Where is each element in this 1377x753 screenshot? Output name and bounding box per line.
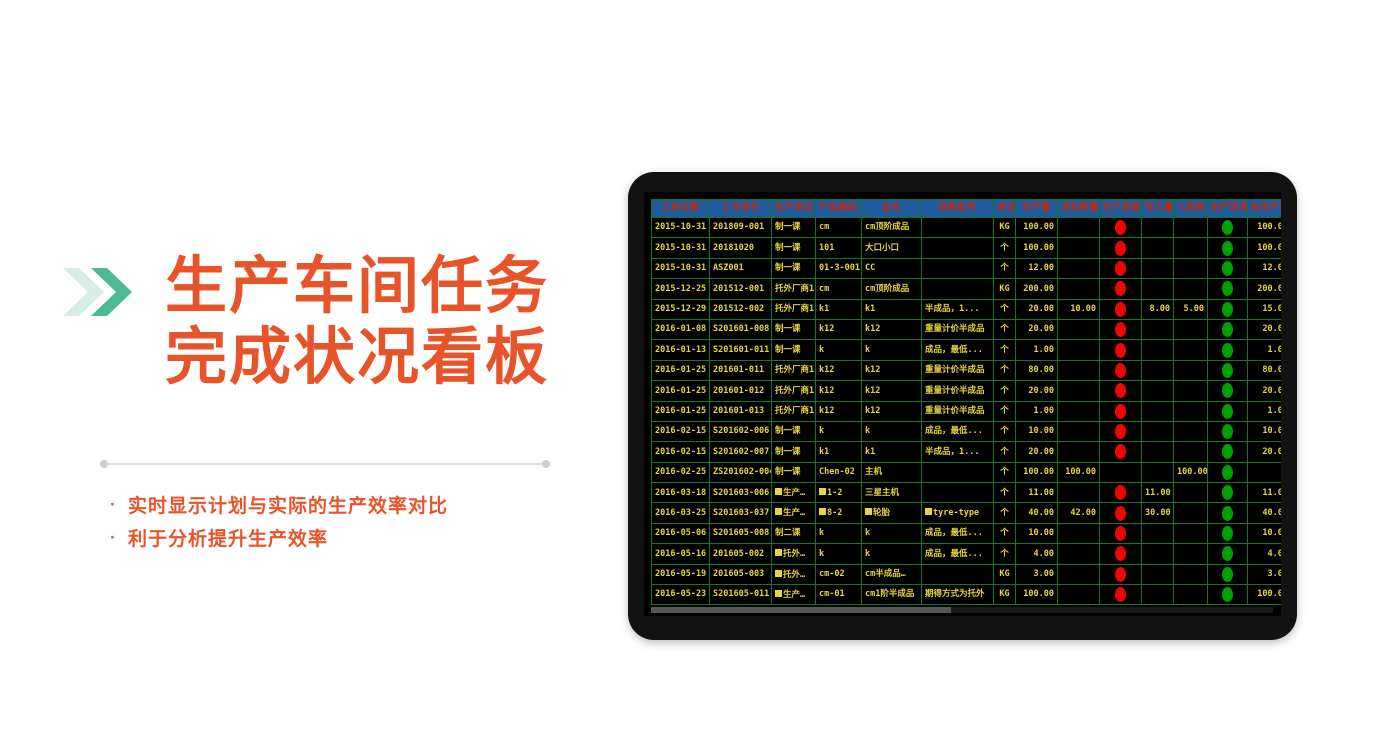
cell-unit: 制一课 [772, 319, 816, 339]
cell-abnormal [1208, 340, 1248, 360]
cell-qty: 100.00 [1016, 238, 1058, 258]
cell-abnormal [1208, 564, 1248, 584]
redacted-mask-icon [775, 590, 782, 597]
cell-uom: 个 [994, 258, 1016, 278]
cell-stock [1174, 319, 1208, 339]
table-row[interactable]: 2015-12-29201512-002托外厂商1k1k1半成品，1...个20… [652, 299, 1282, 319]
progress-red-indicator [1115, 424, 1126, 439]
cell-unit: 制一课 [772, 421, 816, 441]
tablet-screen: 工单日期工令单号生产单位产品编码品名规格型号单位生产量发料数量生产进度完工量入库… [644, 192, 1281, 616]
column-header-5[interactable]: 规格型号 [922, 200, 994, 218]
cell-code: cm-01 [816, 585, 862, 605]
cell-done [1142, 319, 1174, 339]
cell-progress [1100, 340, 1142, 360]
cell-progress [1100, 585, 1142, 605]
bullet-text: 利于分析提升生产效率 [128, 523, 328, 556]
cell-unproduced: 100.00 [1248, 238, 1282, 258]
cell-done [1142, 401, 1174, 421]
cell-order: S201605-011 [710, 585, 772, 605]
abnormal-green-indicator [1222, 241, 1233, 256]
cell-uom: KG [994, 585, 1016, 605]
table-row[interactable]: 2016-01-25201601-012托外厂商1k12k12重量计价半成品个2… [652, 381, 1282, 401]
cell-issue: 100.00 [1058, 462, 1100, 482]
cell-unproduced: 40.00 [1248, 503, 1282, 523]
cell-done [1142, 462, 1174, 482]
progress-red-indicator [1115, 587, 1126, 602]
cell-done: 11.00 [1142, 483, 1174, 503]
cell-name: 主机 [862, 462, 922, 482]
table-row[interactable]: 2016-05-16201605-002托外…kk成品，最低...个4.004.… [652, 544, 1282, 564]
abnormal-green-indicator [1222, 526, 1233, 541]
cell-unproduced: 20.00 [1248, 381, 1282, 401]
redacted-mask-icon [925, 508, 932, 515]
cell-spec: 半成品，1... [922, 299, 994, 319]
cell-abnormal [1208, 258, 1248, 278]
divider-dot-right [542, 460, 550, 468]
cell-progress [1100, 523, 1142, 543]
cell-spec: 成品，最低... [922, 340, 994, 360]
cell-qty: 20.00 [1016, 381, 1058, 401]
abnormal-green-indicator [1222, 302, 1233, 317]
column-header-0[interactable]: 工单日期 [652, 200, 710, 218]
cell-name: k [862, 523, 922, 543]
column-header-11[interactable]: 入库数量 [1174, 200, 1208, 218]
cell-spec: 成品，最低... [922, 523, 994, 543]
cell-date: 2016-02-25 [652, 462, 710, 482]
cell-name: cm顶阶成品 [862, 279, 922, 299]
cell-done [1142, 360, 1174, 380]
cell-abnormal [1208, 401, 1248, 421]
cell-code: k12 [816, 360, 862, 380]
cell-abnormal [1208, 544, 1248, 564]
cell-uom: 个 [994, 360, 1016, 380]
production-kanban-table: 工单日期工令单号生产单位产品编码品名规格型号单位生产量发料数量生产进度完工量入库… [651, 199, 1281, 605]
cell-abnormal [1208, 483, 1248, 503]
cell-issue [1058, 319, 1100, 339]
cell-stock [1174, 381, 1208, 401]
cell-done [1142, 544, 1174, 564]
cell-order: S201602-007 [710, 442, 772, 462]
cell-unit: 生产… [772, 585, 816, 605]
cell-qty: 20.00 [1016, 319, 1058, 339]
cell-unproduced: 20.00 [1248, 319, 1282, 339]
cell-progress [1100, 319, 1142, 339]
cell-qty: 12.00 [1016, 258, 1058, 278]
cell-order: 201601-012 [710, 381, 772, 401]
column-header-8[interactable]: 发料数量 [1058, 200, 1100, 218]
cell-order: S201601-011 [710, 340, 772, 360]
cell-done [1142, 585, 1174, 605]
cell-spec: 成品，最低... [922, 544, 994, 564]
table-row[interactable]: 2016-05-23S201605-011生产…cm-01cm1阶半成品期得方式… [652, 585, 1282, 605]
slide-left-panel: 生产车间任务 完成状况看板 · 实时显示计划与实际的生产效率对比 · 利于分析提… [0, 0, 620, 753]
cell-name: k12 [862, 360, 922, 380]
page-title-line-2: 完成状况看板 [165, 323, 605, 394]
cell-qty: 4.00 [1016, 544, 1058, 564]
cell-unproduced: 12.00 [1248, 258, 1282, 278]
cell-done [1142, 523, 1174, 543]
cell-abnormal [1208, 442, 1248, 462]
abnormal-green-indicator [1222, 485, 1233, 500]
cell-uom: 个 [994, 381, 1016, 401]
cell-date: 2016-01-25 [652, 360, 710, 380]
cell-progress [1100, 238, 1142, 258]
cell-stock [1174, 360, 1208, 380]
cell-code: 1-2 [816, 483, 862, 503]
redacted-mask-icon [819, 488, 826, 495]
cell-order: ASZ001 [710, 258, 772, 278]
cell-code: k [816, 544, 862, 564]
cell-uom: 个 [994, 340, 1016, 360]
progress-red-indicator [1115, 546, 1126, 561]
cell-stock [1174, 585, 1208, 605]
cell-progress [1100, 401, 1142, 421]
cell-uom: 个 [994, 483, 1016, 503]
cell-progress [1100, 503, 1142, 523]
cell-qty: 40.00 [1016, 503, 1058, 523]
cell-spec [922, 483, 994, 503]
cell-code: cm-02 [816, 564, 862, 584]
cell-stock [1174, 279, 1208, 299]
cell-date: 2016-05-19 [652, 564, 710, 584]
progress-red-indicator [1115, 526, 1126, 541]
cell-stock [1174, 544, 1208, 564]
cell-code: k1 [816, 442, 862, 462]
table-row[interactable]: 2016-03-18S201603-006生产…1-2三星主机个11.0011.… [652, 483, 1282, 503]
cell-date: 2016-05-16 [652, 544, 710, 564]
cell-qty: 3.00 [1016, 564, 1058, 584]
cell-date: 2016-01-25 [652, 401, 710, 421]
abnormal-green-indicator [1222, 383, 1233, 398]
table-body: 2015-10-31201809-001制一课cmcm顶阶成品KG100.001… [652, 218, 1282, 605]
cell-progress [1100, 218, 1142, 238]
cell-name: k12 [862, 319, 922, 339]
cell-unproduced: 100.00 [1248, 585, 1282, 605]
divider [100, 460, 550, 468]
cell-name: k [862, 340, 922, 360]
cell-uom: 个 [994, 523, 1016, 543]
cell-code: k [816, 523, 862, 543]
column-header-7[interactable]: 生产量 [1016, 200, 1058, 218]
column-header-3[interactable]: 产品编码 [816, 200, 862, 218]
cell-order: S201603-037 [710, 503, 772, 523]
table-row[interactable]: 2016-01-25201601-011托外厂商1k12k12重量计价半成品个8… [652, 360, 1282, 380]
cell-issue [1058, 442, 1100, 462]
cell-unit: 制一课 [772, 340, 816, 360]
cell-code: k12 [816, 381, 862, 401]
cell-order: S201601-008 [710, 319, 772, 339]
abnormal-green-indicator [1222, 465, 1233, 480]
cell-qty: 10.00 [1016, 421, 1058, 441]
cell-qty: 1.00 [1016, 340, 1058, 360]
cell-unproduced: 15.00 [1248, 299, 1282, 319]
cell-unit: 托外厂商1 [772, 401, 816, 421]
cell-unit: 生产… [772, 483, 816, 503]
cell-spec: tyre-type [922, 503, 994, 523]
cell-done: 8.00 [1142, 299, 1174, 319]
cell-stock [1174, 442, 1208, 462]
cell-stock [1174, 238, 1208, 258]
cell-unproduced [1248, 462, 1282, 482]
cell-qty: 100.00 [1016, 462, 1058, 482]
cell-code: 8-2 [816, 503, 862, 523]
abnormal-green-indicator [1222, 546, 1233, 561]
cell-qty: 1.00 [1016, 401, 1058, 421]
column-header-12[interactable]: 生产异常 [1208, 200, 1248, 218]
table-row[interactable]: 2015-10-31201809-001制一课cmcm顶阶成品KG100.001… [652, 218, 1282, 238]
cell-spec [922, 279, 994, 299]
cell-code: cm [816, 218, 862, 238]
double-chevron-icon [63, 266, 135, 318]
cell-order: 201512-001 [710, 279, 772, 299]
cell-uom: 个 [994, 299, 1016, 319]
table-row[interactable]: 2016-05-19201605-003托外…cm-02cm半成品…KG3.00… [652, 564, 1282, 584]
cell-unit: 制二课 [772, 523, 816, 543]
cell-uom: 个 [994, 319, 1016, 339]
cell-spec: 重量计价半成品 [922, 319, 994, 339]
table-row[interactable]: 2016-02-25ZS201602-004制一课Chen-02主机个100.0… [652, 462, 1282, 482]
cell-unproduced: 10.00 [1248, 421, 1282, 441]
cell-abnormal [1208, 238, 1248, 258]
abnormal-green-indicator [1222, 363, 1233, 378]
cell-abnormal [1208, 360, 1248, 380]
cell-qty: 20.00 [1016, 299, 1058, 319]
cell-qty: 80.00 [1016, 360, 1058, 380]
cell-date: 2016-05-23 [652, 585, 710, 605]
scrollbar-thumb[interactable] [651, 607, 951, 613]
progress-red-indicator [1115, 363, 1126, 378]
cell-order: 20181020 [710, 238, 772, 258]
cell-name: 大口小口 [862, 238, 922, 258]
cell-spec [922, 218, 994, 238]
cell-stock [1174, 218, 1208, 238]
cell-order: 201809-001 [710, 218, 772, 238]
progress-red-indicator [1115, 220, 1126, 235]
progress-red-indicator [1115, 444, 1126, 459]
abnormal-green-indicator [1222, 220, 1233, 235]
cell-abnormal [1208, 462, 1248, 482]
table-row[interactable]: 2015-10-31ASZ001制一课01-3-001CC个12.0012.00… [652, 258, 1282, 278]
cell-done [1142, 340, 1174, 360]
cell-issue [1058, 483, 1100, 503]
cell-qty: 200.00 [1016, 279, 1058, 299]
redacted-mask-icon [775, 488, 782, 495]
cell-unit: 制一课 [772, 462, 816, 482]
cell-done [1142, 564, 1174, 584]
cell-progress [1100, 421, 1142, 441]
cell-issue [1058, 585, 1100, 605]
cell-uom: KG [994, 564, 1016, 584]
cell-abnormal [1208, 319, 1248, 339]
cell-spec: 重量计价半成品 [922, 381, 994, 401]
page-title: 生产车间任务 完成状况看板 [165, 252, 605, 393]
cell-order: ZS201602-004 [710, 462, 772, 482]
cell-done [1142, 258, 1174, 278]
list-item: · 实时显示计划与实际的生产效率对比 [110, 490, 610, 523]
cell-progress [1100, 544, 1142, 564]
abnormal-green-indicator [1222, 343, 1233, 358]
cell-issue [1058, 258, 1100, 278]
cell-date: 2016-01-08 [652, 319, 710, 339]
cell-uom: KG [994, 218, 1016, 238]
cell-order: 201601-011 [710, 360, 772, 380]
cell-unproduced: 100.00 [1248, 218, 1282, 238]
column-header-2[interactable]: 生产单位 [772, 200, 816, 218]
cell-date: 2015-10-31 [652, 258, 710, 278]
table-row[interactable]: 2016-03-25S201603-037生产…8-2轮胎tyre-type个4… [652, 503, 1282, 523]
cell-spec: 半成品，1... [922, 442, 994, 462]
cell-stock: 5.00 [1174, 299, 1208, 319]
cell-spec [922, 238, 994, 258]
column-header-1[interactable]: 工令单号 [710, 200, 772, 218]
cell-date: 2015-10-31 [652, 238, 710, 258]
cell-unit: 生产… [772, 503, 816, 523]
cell-abnormal [1208, 503, 1248, 523]
cell-name: k [862, 421, 922, 441]
table-row[interactable]: 2016-02-15S201602-007制一课k1k1半成品，1...个20.… [652, 442, 1282, 462]
cell-code: k12 [816, 401, 862, 421]
abnormal-green-indicator [1222, 404, 1233, 419]
cell-uom: 个 [994, 503, 1016, 523]
cell-order: 201605-002 [710, 544, 772, 564]
divider-bar [106, 463, 544, 465]
redacted-mask-icon [775, 570, 782, 577]
progress-red-indicator [1115, 241, 1126, 256]
cell-uom: 个 [994, 421, 1016, 441]
table-row[interactable]: 2016-01-13S201601-011制一课kk成品，最低...个1.001… [652, 340, 1282, 360]
bullet-text: 实时显示计划与实际的生产效率对比 [128, 490, 448, 523]
abnormal-green-indicator [1222, 261, 1233, 276]
cell-uom: 个 [994, 401, 1016, 421]
cell-issue [1058, 238, 1100, 258]
column-header-10[interactable]: 完工量 [1142, 200, 1174, 218]
cell-stock: 100.00 [1174, 462, 1208, 482]
redacted-mask-icon [865, 508, 872, 515]
cell-issue [1058, 421, 1100, 441]
progress-red-indicator [1115, 567, 1126, 582]
progress-red-indicator [1115, 485, 1126, 500]
progress-red-indicator [1115, 302, 1126, 317]
progress-red-indicator [1115, 404, 1126, 419]
cell-name: k [862, 544, 922, 564]
cell-code: 101 [816, 238, 862, 258]
table-row[interactable]: 2016-01-25201601-013托外厂商1k12k12重量计价半成品个1… [652, 401, 1282, 421]
cell-qty: 100.00 [1016, 585, 1058, 605]
cell-issue [1058, 523, 1100, 543]
cell-qty: 11.00 [1016, 483, 1058, 503]
progress-red-indicator [1115, 383, 1126, 398]
bullet-mark-icon: · [110, 523, 128, 553]
table-row[interactable]: 2016-01-08S201601-008制一课k12k12重量计价半成品个20… [652, 319, 1282, 339]
bullet-list: · 实时显示计划与实际的生产效率对比 · 利于分析提升生产效率 [110, 490, 610, 557]
cell-unit: 制一课 [772, 238, 816, 258]
cell-spec: 重量计价半成品 [922, 360, 994, 380]
cell-abnormal [1208, 381, 1248, 401]
cell-unit: 托外厂商1 [772, 381, 816, 401]
cell-abnormal [1208, 585, 1248, 605]
cell-order: S201603-006 [710, 483, 772, 503]
abnormal-green-indicator [1222, 567, 1233, 582]
cell-progress [1100, 279, 1142, 299]
cell-unit: 托外厂商1 [772, 279, 816, 299]
cell-order: 201512-002 [710, 299, 772, 319]
cell-order: 201601-013 [710, 401, 772, 421]
table-row[interactable]: 2015-10-3120181020制一课101大口小口个100.00100.0… [652, 238, 1282, 258]
cell-issue [1058, 279, 1100, 299]
cell-progress [1100, 360, 1142, 380]
cell-stock [1174, 258, 1208, 278]
cell-date: 2016-01-13 [652, 340, 710, 360]
cell-code: 01-3-001 [816, 258, 862, 278]
cell-code: k [816, 340, 862, 360]
cell-done [1142, 279, 1174, 299]
table-row[interactable]: 2016-05-06S201605-008制二课kk成品，最低...个10.00… [652, 523, 1282, 543]
cell-done [1142, 421, 1174, 441]
cell-code: k1 [816, 299, 862, 319]
cell-spec: 期得方式为托外 [922, 585, 994, 605]
cell-progress [1100, 381, 1142, 401]
cell-unproduced: 200.00 [1248, 279, 1282, 299]
abnormal-green-indicator [1222, 444, 1233, 459]
column-header-6[interactable]: 单位 [994, 200, 1016, 218]
redacted-mask-icon [775, 549, 782, 556]
progress-red-indicator [1115, 261, 1126, 276]
progress-red-indicator [1115, 281, 1126, 296]
cell-uom: 个 [994, 238, 1016, 258]
cell-abnormal [1208, 523, 1248, 543]
cell-date: 2015-12-29 [652, 299, 710, 319]
cell-order: S201602-006 [710, 421, 772, 441]
cell-issue [1058, 544, 1100, 564]
cell-uom: 个 [994, 442, 1016, 462]
progress-red-indicator [1115, 343, 1126, 358]
cell-unproduced: 11.00 [1248, 483, 1282, 503]
column-header-13[interactable]: 未生产量 [1248, 200, 1282, 218]
cell-progress [1100, 299, 1142, 319]
table-row[interactable]: 2015-12-25201512-001托外厂商1cmcm顶阶成品KG200.0… [652, 279, 1282, 299]
cell-issue [1058, 218, 1100, 238]
cell-issue [1058, 401, 1100, 421]
abnormal-green-indicator [1222, 506, 1233, 521]
progress-red-indicator [1115, 322, 1126, 337]
cell-code: k12 [816, 319, 862, 339]
cell-qty: 20.00 [1016, 442, 1058, 462]
cell-unproduced: 1.00 [1248, 401, 1282, 421]
cell-date: 2016-02-15 [652, 421, 710, 441]
cell-unit: 制一课 [772, 258, 816, 278]
column-header-9[interactable]: 生产进度 [1100, 200, 1142, 218]
cell-date: 2015-10-31 [652, 218, 710, 238]
cell-uom: 个 [994, 462, 1016, 482]
cell-spec [922, 258, 994, 278]
cell-done [1142, 381, 1174, 401]
cell-unproduced: 80.00 [1248, 360, 1282, 380]
cell-progress [1100, 462, 1142, 482]
cell-stock [1174, 401, 1208, 421]
cell-spec: 重量计价半成品 [922, 401, 994, 421]
cell-unproduced: 10.00 [1248, 523, 1282, 543]
horizontal-scrollbar[interactable] [651, 607, 1273, 613]
cell-date: 2016-02-15 [652, 442, 710, 462]
cell-order: 201605-003 [710, 564, 772, 584]
cell-name: k1 [862, 442, 922, 462]
table-row[interactable]: 2016-02-15S201602-006制一课kk成品，最低...个10.00… [652, 421, 1282, 441]
cell-code: k [816, 421, 862, 441]
cell-date: 2016-01-25 [652, 381, 710, 401]
cell-unit: 托外… [772, 544, 816, 564]
cell-unproduced: 1.00 [1248, 340, 1282, 360]
column-header-4[interactable]: 品名 [862, 200, 922, 218]
